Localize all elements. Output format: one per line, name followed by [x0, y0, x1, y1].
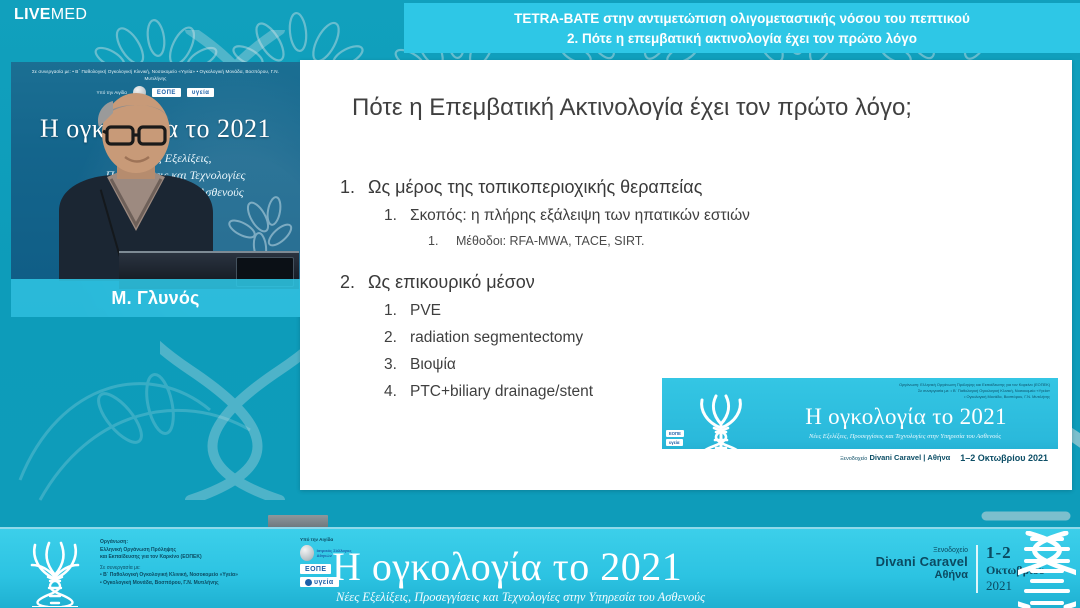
livemed-logo-bold: LIVE [14, 6, 51, 23]
banner-subtitle: Νέες Εξελίξεις, Προσεγγίσεις και Τεχνολο… [762, 433, 1048, 440]
footer-aegis-label: Υπό την Αιγίδα [300, 537, 333, 542]
list-item-number: 2. [340, 267, 368, 297]
list-item-label: Μέθοδοι: RFA-MWA, TACE, SIRT. [456, 229, 645, 253]
footer-venue-block: Ξενοδοχείο Divani Caravel Αθήνα [848, 547, 968, 581]
banner-chip-eope: ΕΟΠΕ [666, 430, 684, 437]
banner-credits: Οργάνωση: Ελληνική Οργάνωση Πρόληψης και… [782, 382, 1050, 401]
footer-venue-city: Αθήνα [848, 569, 968, 581]
footer-cooperation-2: • Ογκολογική Μονάδα, Βοσπόρου, Γ.Ν. Μυτι… [100, 580, 290, 588]
slide-bullet-list: 1. Ως μέρος της τοπικοπεριοχικής θεραπεί… [340, 170, 1052, 405]
footer-dna-helix-icon [1018, 531, 1076, 608]
banner-date: 1–2 Οκτωβρίου 2021 [960, 453, 1048, 463]
footer-eope-logo: ΕΟΠΕ [300, 564, 331, 574]
livemed-logo: LIVEMED [14, 6, 87, 24]
ygeia-dot-icon [305, 579, 312, 586]
footer-event-subtitle: Νέες Εξελίξεις, Προσεγγίσεις και Τεχνολο… [336, 590, 705, 605]
footer-cooperation-1: • Β΄ Παθολογική Ογκολογική Κλινική, Νοσο… [100, 572, 290, 580]
list-item-label: Σκοπός: η πλήρης εξάλειψη των ηπατικών ε… [410, 202, 750, 229]
slide-conference-banner: ΕΟΠΕ υγεία Οργάνωση: Ελληνική Οργάνωση Π… [662, 378, 1058, 466]
banner-title: Η ογκολογία το 2021 [762, 404, 1050, 430]
list-item-label: PVE [410, 297, 441, 324]
medical-association-seal-icon [300, 545, 314, 561]
slide-title: Πότε η Επεμβατική Ακτινολογία έχει τον π… [352, 94, 912, 122]
banner-venue: Ξενοδοχείο Divani Caravel | Αθήνα [840, 453, 950, 462]
list-item-number: 1. [384, 297, 410, 324]
session-title-line-2: 2. Πότε η επεμβατική ακτινολογία έχει το… [567, 29, 917, 49]
list-item: 2. Ως επικουρικό μέσον [340, 267, 1052, 297]
footer-venue-label: Ξενοδοχείο [848, 547, 968, 554]
list-item-label: PTC+biliary drainage/stent [410, 378, 593, 405]
banner-venue-name: Divani Caravel | Αθήνα [869, 453, 950, 462]
presentation-slide[interactable]: Πότε η Επεμβατική Ακτινολογία έχει τον π… [300, 60, 1072, 490]
banner-tree-dna-icon [684, 384, 758, 458]
footer-organizer-name-2: και Εκπαίδευσης για τον Καρκίνο (ΕΟΠΕΚ) [100, 554, 290, 562]
list-item-number: 3. [384, 351, 410, 378]
footer-ygeia-label: υγεία [314, 579, 334, 586]
session-title-bar: TETRA-BATE στην αντιμετώπιση ολιγομεταστ… [404, 3, 1080, 53]
banner-credits-line-3: • Ογκολογική Μονάδα, Βοσπόρου, Γ.Ν. Μυτι… [782, 394, 1050, 400]
list-item-number: 1. [384, 202, 410, 229]
list-item: 1. Σκοπός: η πλήρης εξάλειψη των ηπατικώ… [384, 202, 1052, 229]
footer-organizer-block: Οργάνωση: Ελληνική Οργάνωση Πρόληψης και… [100, 539, 290, 588]
banner-footer: Ξενοδοχείο Divani Caravel | Αθήνα 1–2 Οκ… [662, 449, 1058, 466]
speaker-name: Μ. Γλυνός [111, 288, 199, 309]
list-group-spacer [340, 253, 1052, 265]
event-footer-banner: Οργάνωση: Ελληνική Οργάνωση Πρόληψης και… [0, 527, 1080, 608]
list-item-label: Βιοψία [410, 351, 456, 378]
footer-event-title: Η ογκολογία το 2021 [332, 543, 682, 590]
list-item-number: 1. [428, 229, 456, 253]
list-item: 1. Ως μέρος της τοπικοπεριοχικής θεραπεί… [340, 172, 1052, 202]
backdrop-credits-text: Σε συνεργασία με: • Β΄ Παθολογική Ογκολο… [29, 68, 282, 82]
speaker-name-band: Μ. Γλυνός [11, 279, 300, 317]
list-item-number: 1. [340, 172, 368, 202]
livemed-logo-light: MED [51, 6, 87, 23]
list-item: 3. Βιοψία [384, 351, 1052, 378]
session-title-line-1: TETRA-BATE στην αντιμετώπιση ολιγομεταστ… [514, 9, 970, 29]
footer-venue-name: Divani Caravel [848, 554, 968, 569]
banner-venue-label: Ξενοδοχείο [840, 456, 867, 462]
list-item-label: radiation segmentectomy [410, 324, 583, 351]
list-item: 1. PVE [384, 297, 1052, 324]
banner-logo-chips: ΕΟΠΕ υγεία [666, 430, 708, 446]
list-item-number: 2. [384, 324, 410, 351]
speaker-video-panel[interactable]: Σε συνεργασία με: • Β΄ Παθολογική Ογκολο… [11, 62, 300, 317]
banner-top-nub [268, 515, 328, 527]
list-item-label: Ως μέρος της τοπικοπεριοχικής θεραπείας [368, 172, 702, 202]
footer-organizer-label: Οργάνωση: [100, 539, 290, 547]
list-item-label: Ως επικουρικό μέσον [368, 267, 535, 297]
banner-chip-ygeia: υγεία [666, 439, 683, 446]
footer-organizer-name-1: Ελληνική Οργάνωση Πρόληψης [100, 547, 290, 555]
list-item: 1. Μέθοδοι: RFA-MWA, TACE, SIRT. [428, 229, 1052, 253]
list-item: 2. radiation segmentectomy [384, 324, 1052, 351]
footer-divider [976, 545, 978, 593]
footer-cooperation-label: Σε συνεργασία με: [100, 565, 290, 573]
list-item-number: 4. [384, 378, 410, 405]
footer-tree-dna-icon [18, 535, 92, 607]
